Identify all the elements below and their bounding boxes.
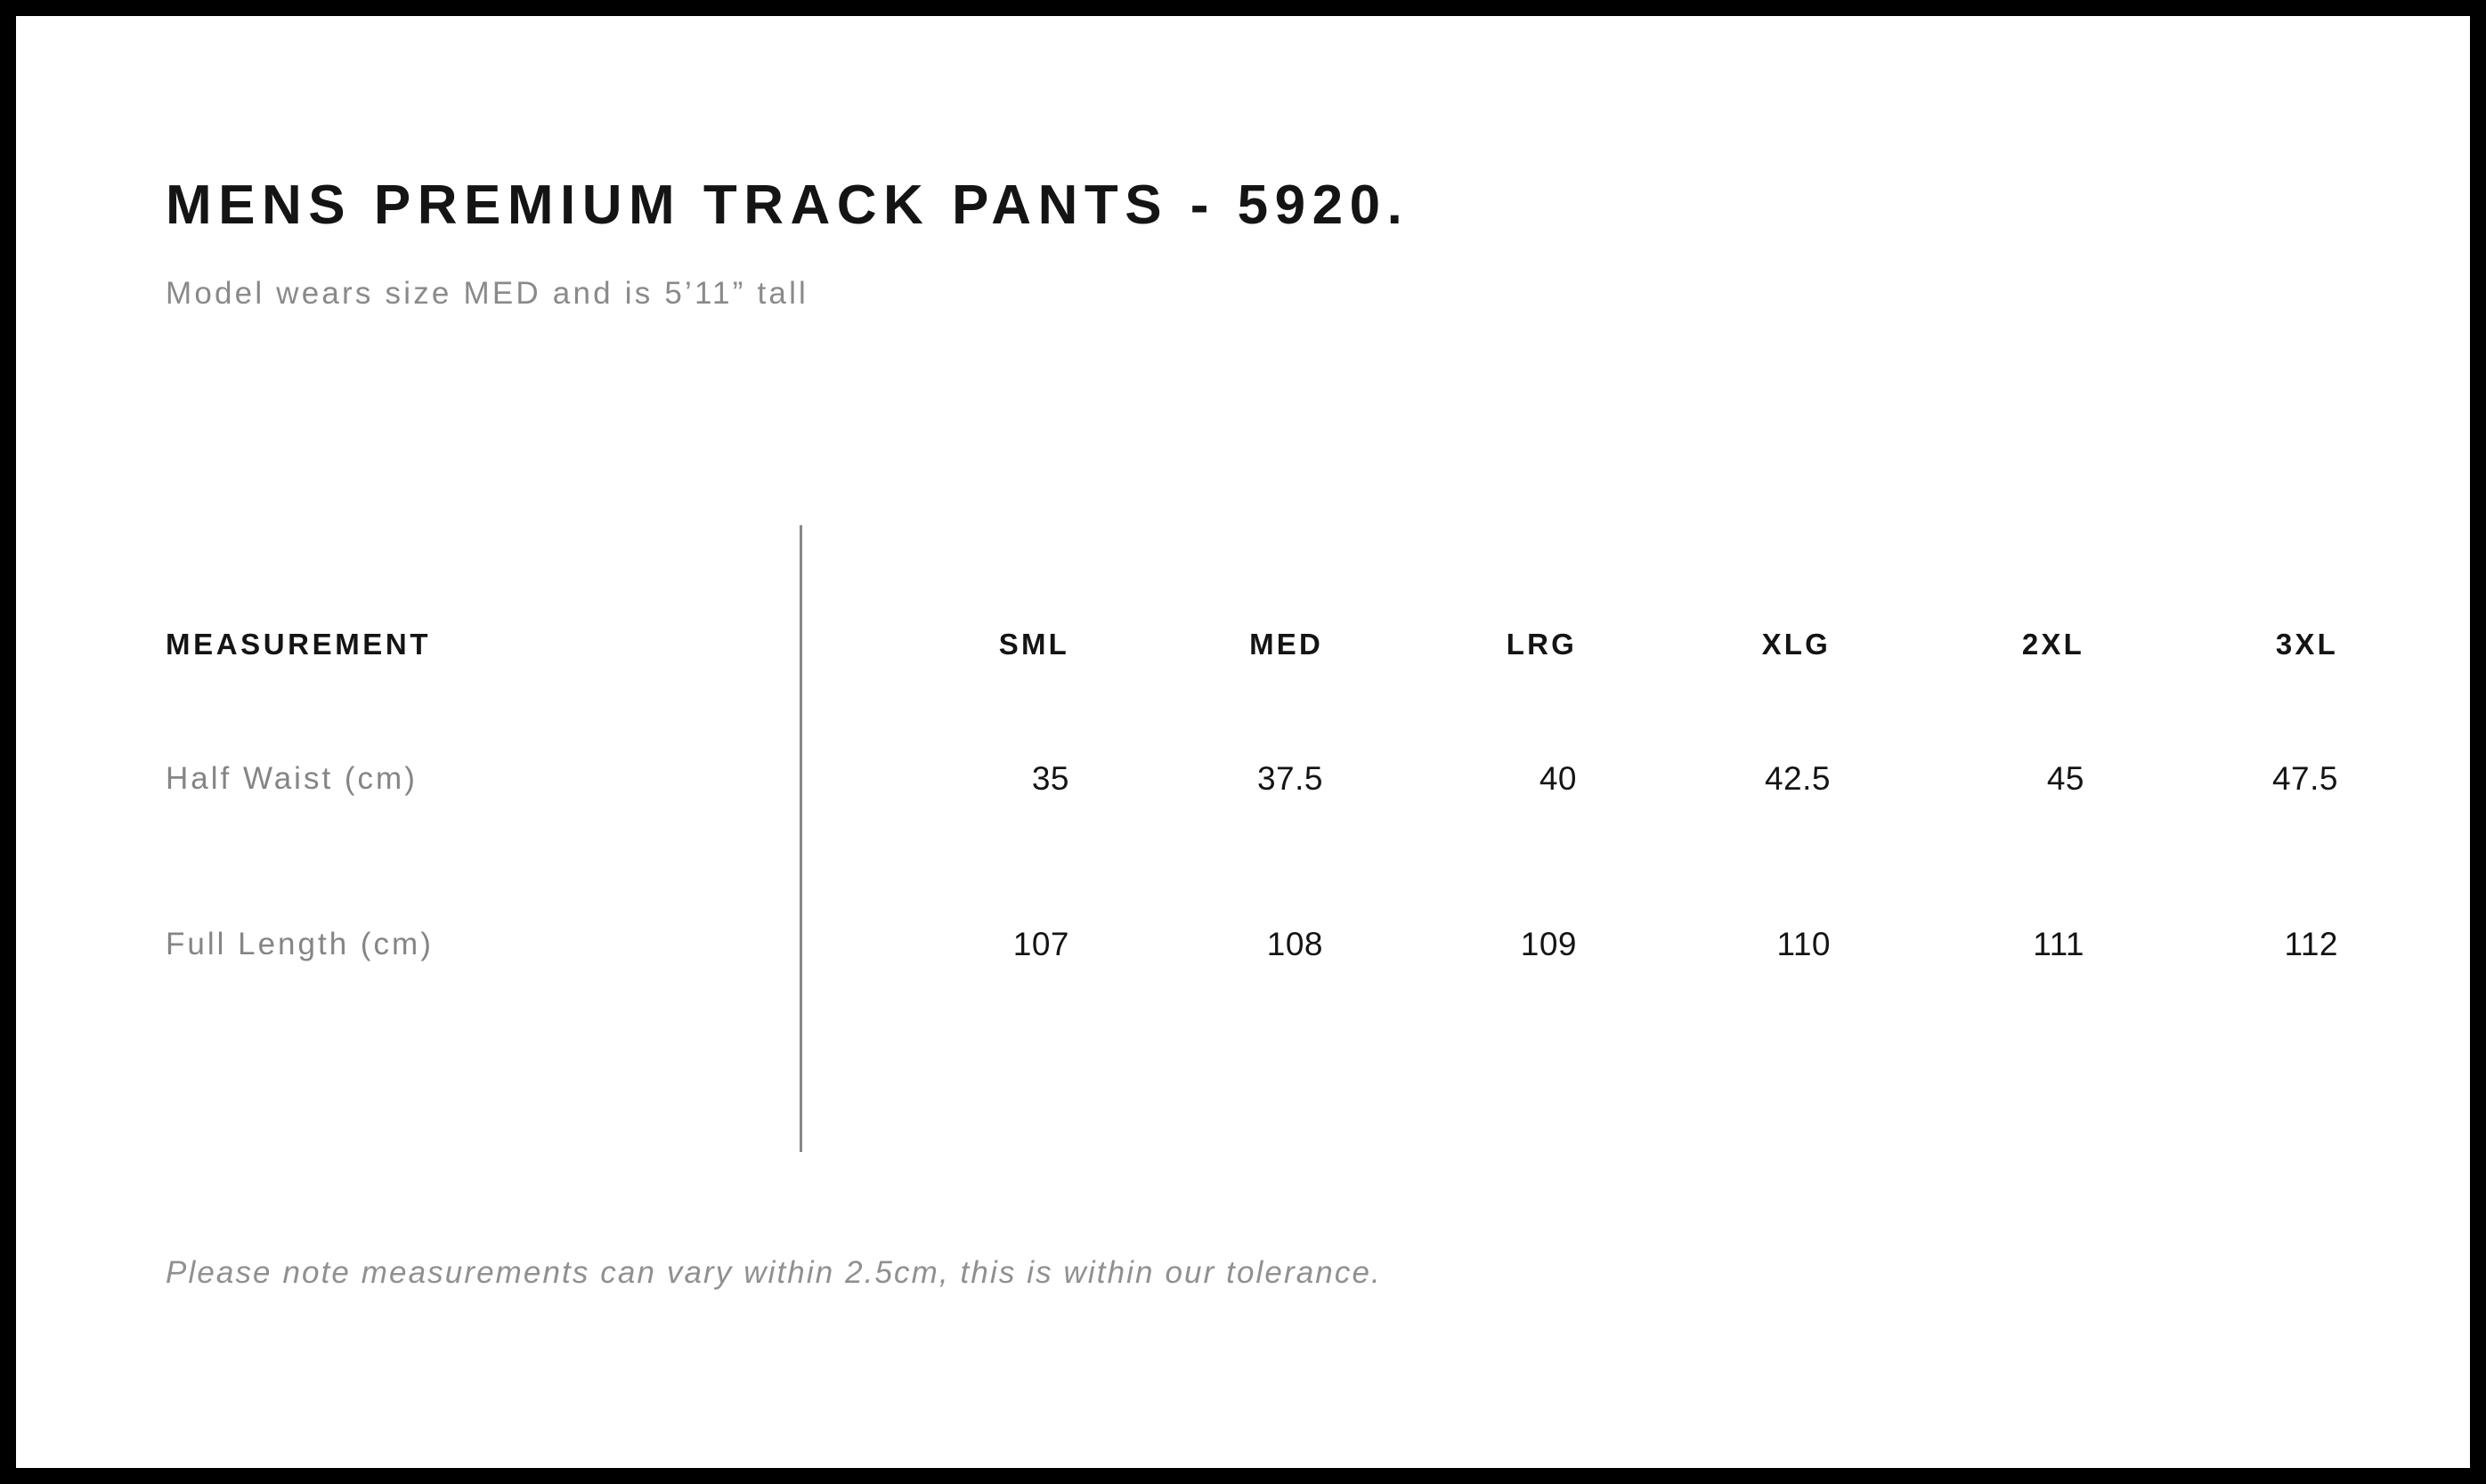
table-row: Half Waist (cm) 35 37.5 40 42.5 45 47.5 [166,696,2338,862]
spacer-cell [2084,515,2338,593]
spacer-cell [166,1027,816,1113]
cell-full-length-3xl: 112 [2084,862,2338,1027]
row-label-full-length: Full Length (cm) [166,862,816,1027]
table-header-row: MEASUREMENT SML MED LRG XLG 2XL 3XL [166,593,2338,696]
cell-half-waist-xlg: 42.5 [1577,696,1831,862]
spacer-cell [1323,1027,1577,1113]
size-header-xlg: XLG [1577,593,1831,696]
tolerance-footnote: Please note measurements can vary within… [166,1255,2338,1291]
header-block: MENS PREMIUM TRACK PANTS - 5920. Model w… [166,176,2338,312]
spacer-cell [1323,515,1577,593]
model-info-subtitle: Model wears size MED and is 5’11” tall [166,234,2338,312]
cell-full-length-2xl: 111 [1831,862,2084,1027]
cell-half-waist-sml: 35 [816,696,1069,862]
table-top-spacer [166,515,2338,593]
spacer-cell [2084,1027,2338,1113]
cell-full-length-lrg: 109 [1323,862,1577,1027]
cell-full-length-med: 108 [1069,862,1323,1027]
column-divider [800,525,802,1152]
spacer-cell [1069,515,1323,593]
size-table: MEASUREMENT SML MED LRG XLG 2XL 3XL Half… [166,515,2338,1113]
table-bottom-spacer [166,1027,2338,1113]
cell-half-waist-med: 37.5 [1069,696,1323,862]
spacer-cell [816,515,1069,593]
spacer-cell [1577,1027,1831,1113]
spacer-cell [166,515,816,593]
size-chart-page: MENS PREMIUM TRACK PANTS - 5920. Model w… [0,0,2486,1484]
row-label-half-waist: Half Waist (cm) [166,696,816,862]
cell-full-length-xlg: 110 [1577,862,1831,1027]
cell-half-waist-lrg: 40 [1323,696,1577,862]
size-header-lrg: LRG [1323,593,1577,696]
table-row: Full Length (cm) 107 108 109 110 111 112 [166,862,2338,1027]
page-title: MENS PREMIUM TRACK PANTS - 5920. [166,176,2338,234]
cell-half-waist-3xl: 47.5 [2084,696,2338,862]
size-header-2xl: 2XL [1831,593,2084,696]
spacer-cell [1577,515,1831,593]
size-table-container: MEASUREMENT SML MED LRG XLG 2XL 3XL Half… [166,515,2338,1113]
spacer-cell [1831,1027,2084,1113]
size-header-med: MED [1069,593,1323,696]
cell-full-length-sml: 107 [816,862,1069,1027]
size-header-3xl: 3XL [2084,593,2338,696]
measurement-column-header: MEASUREMENT [166,593,816,696]
spacer-cell [1069,1027,1323,1113]
spacer-cell [1831,515,2084,593]
size-header-sml: SML [816,593,1069,696]
size-chart-sheet: MENS PREMIUM TRACK PANTS - 5920. Model w… [16,16,2470,1468]
spacer-cell [816,1027,1069,1113]
cell-half-waist-2xl: 45 [1831,696,2084,862]
